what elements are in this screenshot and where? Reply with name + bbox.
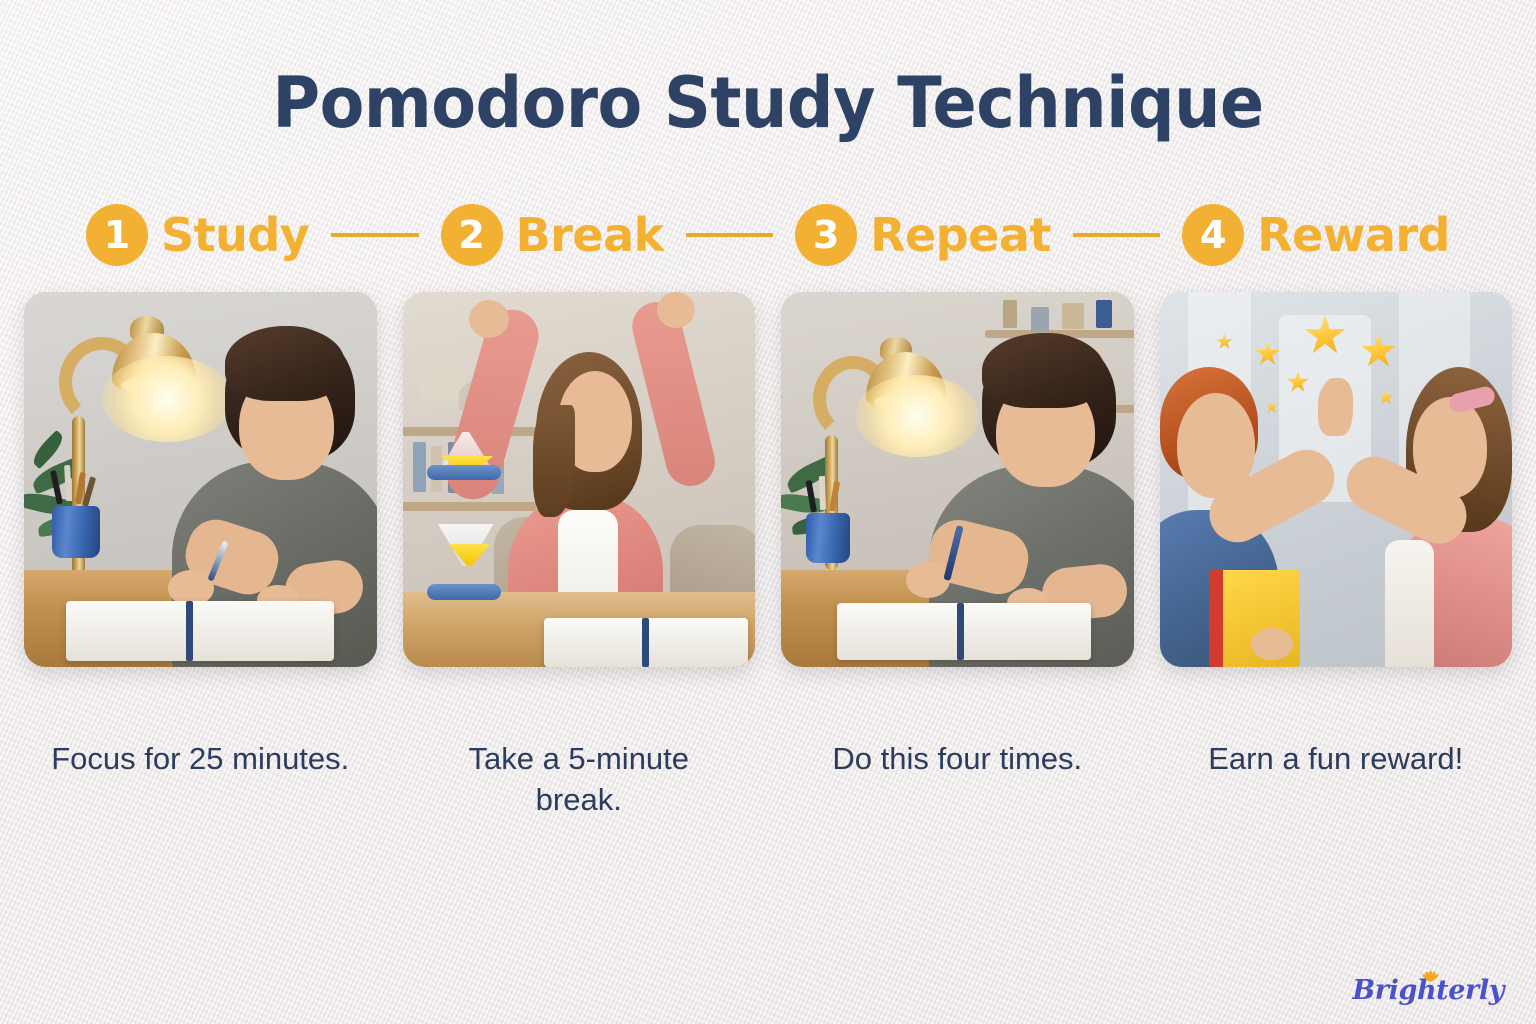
step-label-2: Break bbox=[516, 208, 664, 262]
step-2: 2 Break bbox=[441, 204, 664, 266]
step-label-1: Study bbox=[161, 208, 309, 262]
page-title: Pomodoro Study Technique bbox=[54, 0, 1482, 144]
sunburst-icon bbox=[1408, 965, 1454, 981]
photo-card-reward bbox=[1160, 292, 1513, 667]
step-badge-2: 2 bbox=[441, 204, 503, 266]
step-label-4: Reward bbox=[1257, 208, 1450, 262]
step-badge-3: 3 bbox=[795, 204, 857, 266]
photo-card-break bbox=[403, 292, 756, 667]
step-connector-1-2 bbox=[331, 233, 418, 237]
caption-row: Focus for 25 minutes. Take a 5-minute br… bbox=[0, 739, 1536, 821]
photo-card-repeat bbox=[781, 292, 1134, 667]
caption-study: Focus for 25 minutes. bbox=[24, 739, 377, 821]
photo-repeat-scene bbox=[781, 292, 1134, 667]
photo-card-study bbox=[24, 292, 377, 667]
step-label-3: Repeat bbox=[870, 208, 1051, 262]
caption-repeat: Do this four times. bbox=[781, 739, 1134, 821]
step-connector-3-4 bbox=[1073, 233, 1160, 237]
step-1: 1 Study bbox=[86, 204, 309, 266]
caption-break: Take a 5-minute break. bbox=[403, 739, 756, 821]
step-3: 3 Repeat bbox=[795, 204, 1051, 266]
step-badge-1: 1 bbox=[86, 204, 148, 266]
step-4: 4 Reward bbox=[1182, 204, 1450, 266]
photo-reward-scene bbox=[1160, 292, 1513, 667]
brand-logo[interactable]: Brighterly bbox=[1352, 965, 1504, 1006]
caption-reward: Earn a fun reward! bbox=[1160, 739, 1513, 821]
photo-card-row bbox=[0, 292, 1536, 667]
photo-break-scene bbox=[403, 292, 756, 667]
step-badge-4: 4 bbox=[1182, 204, 1244, 266]
step-connector-2-3 bbox=[686, 233, 773, 237]
poster-canvas: Pomodoro Study Technique 1 Study 2 Break… bbox=[0, 0, 1536, 1024]
photo-study-scene bbox=[24, 292, 377, 667]
steps-row: 1 Study 2 Break 3 Repeat 4 Reward bbox=[0, 204, 1536, 266]
